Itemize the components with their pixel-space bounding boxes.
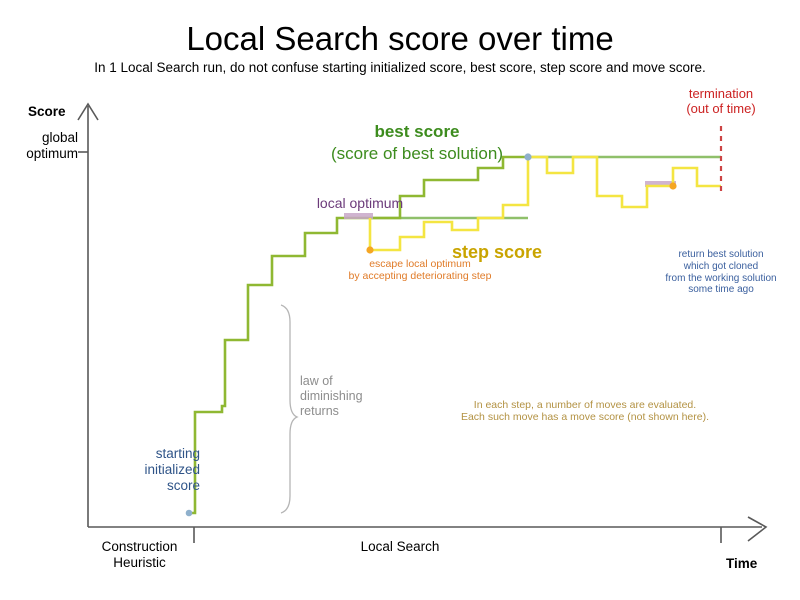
x-phase-construction-heuristic: Construction Heuristic xyxy=(88,539,191,571)
x-phase-local-search: Local Search xyxy=(330,539,470,555)
y-axis xyxy=(78,104,98,527)
starting-score-dot xyxy=(186,510,193,517)
diagram-canvas: Local Search score over time In 1 Local … xyxy=(0,0,800,600)
step-score-line xyxy=(370,157,721,250)
return-best-solution-note: return best solution which got cloned fr… xyxy=(648,249,794,296)
diminishing-returns-brace xyxy=(281,305,297,513)
termination-annotation: termination (out of time) xyxy=(655,86,787,117)
best-score-subtitle-annotation: (score of best solution) xyxy=(292,144,542,164)
best-score-plateau xyxy=(370,157,721,218)
y-axis-title: Score xyxy=(28,104,66,120)
local-optimum-annotation: local optimum xyxy=(300,195,420,212)
escape-dot-1 xyxy=(366,246,373,253)
escape-dot-2 xyxy=(669,182,676,189)
best-score-annotation: best score xyxy=(302,122,532,142)
chart-markers xyxy=(186,153,677,516)
escape-local-optimum-note: escape local optimum by accepting deteri… xyxy=(305,258,535,283)
x-axis-title: Time xyxy=(726,556,757,572)
page-title: Local Search score over time xyxy=(0,20,800,59)
page-subtitle: In 1 Local Search run, do not confuse st… xyxy=(0,60,800,76)
law-of-diminishing-returns-annotation: law of diminishing returns xyxy=(300,374,380,418)
global-optimum-tick-label: global optimum xyxy=(10,130,78,162)
starting-initialized-score-annotation: starting initialized score xyxy=(100,446,200,494)
move-score-note: In each step, a number of moves are eval… xyxy=(440,399,730,424)
